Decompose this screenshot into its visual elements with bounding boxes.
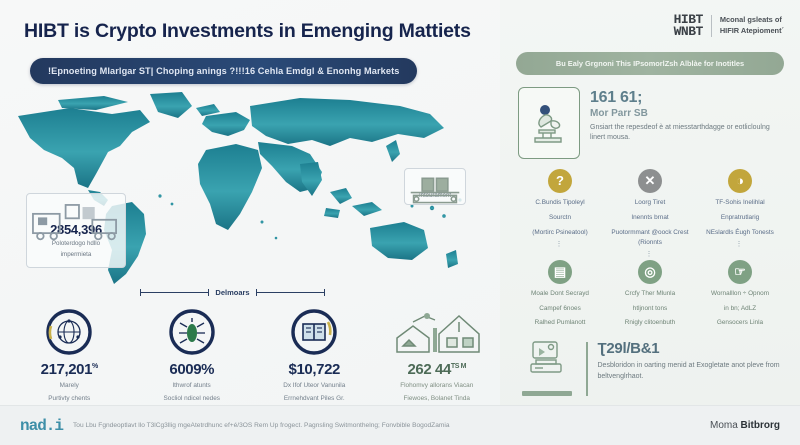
brand-tagline-1: Mconal gsleats of [720, 15, 784, 26]
bank-vault-icon [405, 174, 465, 205]
bottom-card-description: Desbloridon in oarting menid at Exogleta… [598, 361, 783, 383]
stat-item: $10,722 Dx Ifof Uteor Vanunila Errnehdva… [255, 306, 373, 404]
icon-caption-1: Loorg Tiret [606, 198, 694, 208]
icon-caption-3: Puotormmant @oock Crest (Rionnts [606, 228, 694, 248]
world-map: 2854,396 Poloterdogo hdllo impermieta In… [0, 88, 500, 293]
icon-caption-2: Campef 6noes [516, 304, 604, 314]
hero-value: 161 61; [590, 89, 782, 107]
icon-caption-2: Enpratrutlarig [696, 213, 784, 223]
bottom-card: Ʈ29l/B&1 Desbloridon in oarting menid at… [518, 340, 782, 396]
footer-brand-bold: Bitbrorg [741, 420, 780, 431]
connector-dots: ⋮ [696, 241, 784, 248]
segment-label-text: Delmoars [215, 288, 249, 297]
house-solar-icon [378, 306, 496, 358]
icon-caption-3: NEslardls Éugh Tonests [696, 228, 784, 238]
microscope-icon [518, 87, 580, 159]
investment-card: Intourament [404, 168, 466, 205]
stats-row: 217,201% Marely Purtivty chents 6009% [8, 306, 498, 404]
stat-value: $10,722 [255, 361, 373, 378]
map-stat-label-2: impermieta [32, 250, 120, 259]
icon-grid-item: ▤ Moale Dont Secrayd Campef 6noes Ralhed… [516, 260, 604, 329]
footer-brand: Moma Bitbrorg [710, 420, 780, 431]
footer-bar: nad.i Tou Lbu Fgndeoptlavt llo T3lCg3lli… [0, 405, 800, 445]
stat-sub-2: Purtivty chents [10, 394, 128, 404]
icon-grid-item: ✕ Loorg Tiret Inennts brnat Puotormmant … [606, 169, 694, 258]
icon-caption-2: in bn; AdLZ [696, 304, 784, 314]
stat-sub-2: Errnehdvant Piles Gr. [255, 394, 373, 404]
hibt-logo: HIBT WNBT [674, 14, 703, 38]
clipboard-check-icon: ▤ [548, 260, 572, 284]
icon-caption-1: Moale Dont Secrayd [516, 289, 604, 299]
stat-sub-1: Marely [10, 381, 128, 391]
right-panel: HIBT WNBT Mconal gsleats of HIFIR Atepio… [500, 0, 800, 405]
icon-caption-1: C.Bundis Tipoleyl [516, 198, 604, 208]
icon-grid-item: ? C.Bundis Tipoleyl Sourctn (Mortirc Psi… [516, 169, 604, 258]
stat-value: 217,201% [10, 361, 128, 378]
stat-sub-1: lthwrof atunts [133, 381, 251, 391]
bottom-card-value: Ʈ29l/B&1 [598, 340, 783, 357]
ledger-book-icon [255, 306, 373, 358]
shield-circle-icon: ◑ [728, 169, 752, 193]
stat-value: 6009% [133, 361, 251, 378]
icon-caption-3: Ralhed Pumlanott [516, 318, 604, 328]
icon-caption-1: Wornalllon ÷ Opnom [696, 289, 784, 299]
brand-tagline: Mconal gsleats of HIFIR Atepioment´ [720, 15, 784, 36]
icon-caption-1: Crcfy Ther Mlunla [606, 289, 694, 299]
close-circle-icon: ✕ [638, 169, 662, 193]
icon-caption-2: Inennts brnat [606, 213, 694, 223]
brand-tagline-2: HIFIR Atepioment´ [720, 26, 784, 37]
bottom-card-divider [586, 342, 588, 396]
brand-lockup: HIBT WNBT Mconal gsleats of HIFIR Atepio… [512, 14, 788, 38]
hibt-logo-bottom: WNBT [674, 26, 703, 38]
segment-label: Delmoars [140, 288, 325, 297]
stat-sub-2: Socliol ndicel nedes [133, 394, 251, 404]
stat-value: 262 44TS M [378, 361, 496, 378]
brand-divider [711, 15, 712, 37]
question-circle-icon: ? [548, 169, 572, 193]
icon-caption-2: htljnont tons [606, 304, 694, 314]
right-badge: Bu Ealy Grgnoni This IPsomorlZsh Alblàe … [516, 52, 784, 75]
hand-heart-icon: ☞ [728, 260, 752, 284]
stat-item: 6009% lthwrof atunts Socliol ndicel nede… [133, 306, 251, 404]
segment-bar-left [140, 292, 209, 293]
icon-caption-3: (Mortirc Psineatool) [516, 228, 604, 238]
footer-text: Tou Lbu Fgndeoptlavt llo T3lCg3llig mgeA… [73, 422, 700, 429]
infographic-page: HIBT is Crypto Investments in Emenging M… [0, 0, 800, 445]
icon-grid-item: ◎ Crcfy Ther Mlunla htljnont tons Rnigly… [606, 260, 694, 329]
icon-grid-row-2: ▤ Moale Dont Secrayd Campef 6noes Ralhed… [516, 260, 784, 329]
subtitle-badge: !Epnoeting Mlarlgar ST| Choping anings ?… [30, 58, 417, 84]
icon-caption-3: Gensocers Linla [696, 318, 784, 328]
icon-caption-3: Rnigly clitoenbuth [606, 318, 694, 328]
globe-network-icon [10, 306, 128, 358]
connector-dots: ⋮ [516, 241, 604, 248]
stat-item: 262 44TS M Flohomvy allorans Viacan Fiew… [378, 306, 496, 404]
icon-grid-item: ☞ Wornalllon ÷ Opnom in bn; AdLZ Gensoce… [696, 260, 784, 329]
bug-shield-icon [133, 306, 251, 358]
bottom-card-text: Ʈ29l/B&1 Desbloridon in oarting menid at… [598, 340, 783, 383]
stat-sub-1: Flohomvy allorans Viacan [378, 381, 496, 391]
connector-dots: ⋮ [606, 251, 694, 258]
hero-block: 161 61; Mor Parr SB Gnsiart the repesdeo… [518, 87, 782, 159]
icon-grid-row-1: ? C.Bundis Tipoleyl Sourctn (Mortirc Psi… [516, 169, 784, 258]
stat-sub-1: Dx Ifof Uteor Vanunila [255, 381, 373, 391]
icon-caption-1: TF-Sohis Inelihlal [696, 198, 784, 208]
footer-logo: nad.i [20, 417, 63, 435]
segment-bar-right [256, 292, 325, 293]
footer-brand-light: Moma [710, 420, 741, 431]
icon-caption-2: Sourctn [516, 213, 604, 223]
printer-paper-bar [522, 391, 572, 396]
page-title: HIBT is Crypto Investments in Emenging M… [24, 20, 484, 42]
hero-description: Gnsiart the repesdeof è at miesstarthdag… [590, 123, 782, 144]
map-stat-card: 2854,396 Poloterdogo hdllo impermieta [26, 193, 126, 268]
printer-icon [518, 340, 576, 396]
stat-sub-2: Fiewoes, Bolanet Tinda [378, 394, 496, 404]
stat-item: 217,201% Marely Purtivty chents [10, 306, 128, 404]
hero-text: 161 61; Mor Parr SB Gnsiart the repesdeo… [590, 87, 782, 159]
warehouse-icon [27, 199, 125, 244]
icon-grid-item: ◑ TF-Sohis Inelihlal Enpratrutlarig NEsl… [696, 169, 784, 258]
hero-subvalue: Mor Parr SB [590, 108, 782, 119]
alarm-clock-icon: ◎ [638, 260, 662, 284]
